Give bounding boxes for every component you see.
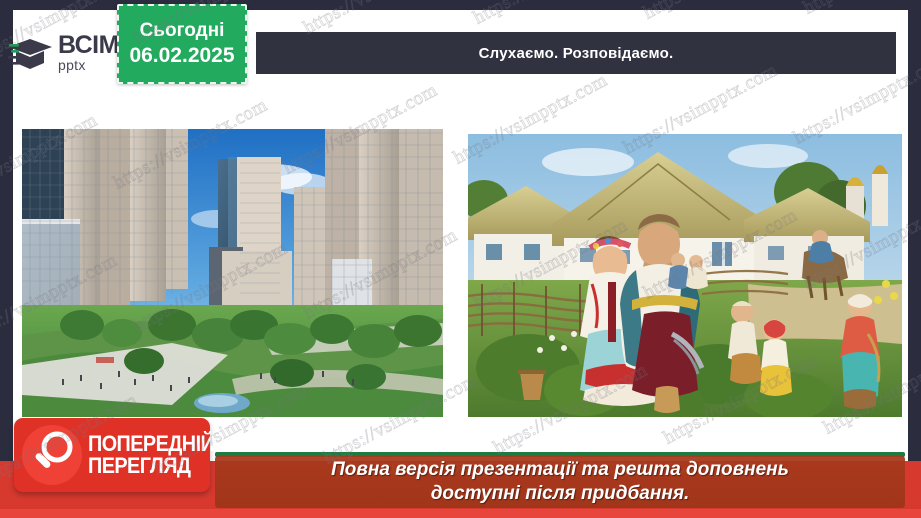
purchase-notice-text: Повна версія презентації та решта доповн… [215,456,905,508]
date-badge-label: Сьогодні [140,19,225,43]
ukrainian-village-painting[interactable] [468,134,902,417]
presentation-slide: https://vsimpptx.com https://vsimpptx.co… [0,0,921,518]
vsim-pptx-logo[interactable]: ВСІМ pptx [8,28,128,80]
preview-badge-line1: ПОПЕРЕДНІЙ [88,433,214,455]
purchase-notice-line1: Повна версія презентації та решта доповн… [331,458,789,482]
today-date-badge: Сьогодні 06.02.2025 [117,4,247,84]
magnifier-icon [22,425,82,485]
date-badge-value: 06.02.2025 [129,43,234,69]
graduation-cap-icon [8,33,54,75]
preview-badge[interactable]: ПОПЕРЕДНІЙ ПЕРЕГЛЯД [14,418,210,492]
graduation-cap-glyph [8,33,54,75]
logo-subtitle: pptx [58,57,86,73]
preview-badge-words: ПОПЕРЕДНІЙ ПЕРЕГЛЯД [88,433,228,477]
modern-city-illustration [22,129,443,417]
slide-title-bar: Слухаємо. Розповідаємо. [254,30,898,76]
purchase-notice-line2: доступні після придбання. [431,482,690,506]
village-illustration [468,134,902,417]
modern-city-photo[interactable] [22,129,443,417]
magnifier-glyph [22,425,82,485]
page-title: Слухаємо. Розповідаємо. [479,45,674,62]
logo-title: ВСІМ [58,31,119,59]
preview-badge-line2: ПЕРЕГЛЯД [88,455,214,477]
